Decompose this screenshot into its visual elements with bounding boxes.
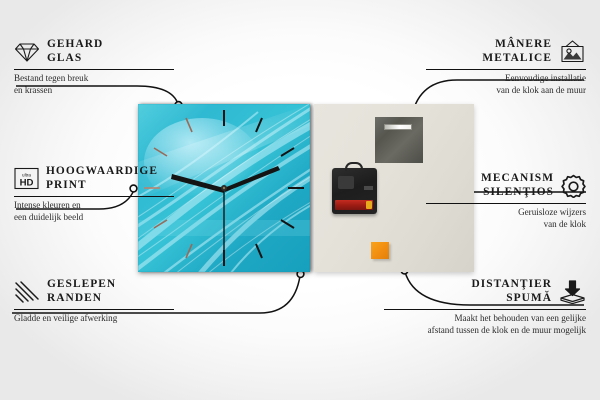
feature-title: DISTANŢIER SPUMĂ	[471, 278, 552, 305]
movement-hook	[345, 162, 363, 171]
foam-spacer	[371, 242, 389, 259]
feature-rule	[426, 203, 586, 204]
feature-title-line2: GLAS	[47, 52, 82, 64]
feature-header: GESLEPEN RANDEN	[14, 278, 174, 305]
feature-distantier-spuma: DISTANŢIER SPUMĂ Maakt het behouden van …	[384, 278, 586, 336]
diamond-icon	[14, 41, 40, 63]
gear-icon	[561, 174, 586, 198]
feature-title-line1: GEHARD	[47, 38, 103, 50]
feature-geslepen-randen: GESLEPEN RANDEN Gladde en veilige afwerk…	[14, 278, 174, 325]
feature-title: MECANISM SILENŢIOS	[481, 172, 554, 199]
feature-description: Eenvoudige installatie van de klok aan d…	[426, 73, 586, 96]
feature-description: Geruisloze wijzers van de klok	[426, 207, 586, 230]
feature-description: Intense kleuren en een duidelijk beeld	[14, 200, 174, 223]
feature-description: Gladde en veilige afwerking	[14, 313, 174, 324]
feature-header: MÂNERE METALICE	[426, 38, 586, 65]
feature-title: GESLEPEN RANDEN	[47, 278, 116, 305]
movement-label	[364, 186, 373, 190]
feature-rule	[384, 309, 586, 310]
feature-title-line2: SILENŢIOS	[483, 186, 554, 198]
ultra-hd-icon: ultra HD	[14, 167, 39, 190]
feature-mecanism-silentios: MECANISM SILENŢIOS Geruisloze wijzers va…	[426, 172, 586, 230]
feature-manere-metalice: MÂNERE METALICE Eenvoudige installatie v…	[426, 38, 586, 96]
feature-header: MECANISM SILENŢIOS	[426, 172, 586, 199]
feature-rule	[14, 309, 174, 310]
feature-title-line1: MECANISM	[481, 172, 554, 184]
feature-rule	[14, 69, 174, 70]
feature-title-line1: GESLEPEN	[47, 278, 116, 290]
feature-title-line2: PRINT	[46, 179, 87, 191]
feature-description: Bestand tegen breuk en krassen	[14, 73, 174, 96]
product-photo	[138, 104, 474, 272]
feature-title: MÂNERE METALICE	[482, 38, 552, 65]
beveled-edges-icon	[14, 281, 40, 303]
spacer-foam-icon	[559, 280, 586, 304]
metal-hanger	[375, 117, 423, 163]
quartz-movement	[332, 168, 377, 214]
ultra-hd-icon-large-text: HD	[20, 178, 34, 189]
feature-title-line1: MÂNERE	[495, 38, 552, 50]
feature-title-line1: HOOGWAARDIGE	[46, 165, 158, 177]
battery	[335, 200, 373, 210]
feature-hoogwaardige-print: ultra HD HOOGWAARDIGE PRINT Intense kleu…	[14, 165, 174, 223]
feature-title-line2: RANDEN	[47, 292, 102, 304]
feature-rule	[426, 69, 586, 70]
hanger-slot	[384, 124, 412, 130]
feature-title-line1: DISTANŢIER	[471, 278, 552, 290]
feature-gehard-glas: GEHARD GLAS Bestand tegen breuk en krass…	[14, 38, 174, 96]
feature-header: ultra HD HOOGWAARDIGE PRINT	[14, 165, 174, 192]
infographic-canvas: GEHARD GLAS Bestand tegen breuk en krass…	[0, 0, 600, 400]
movement-dial	[338, 176, 354, 189]
picture-frame-icon	[559, 40, 586, 63]
feature-description: Maakt het behouden van een gelijke afsta…	[384, 313, 586, 336]
feature-rule	[14, 196, 174, 197]
feature-header: GEHARD GLAS	[14, 38, 174, 65]
feature-title: GEHARD GLAS	[47, 38, 103, 65]
feature-title: HOOGWAARDIGE PRINT	[46, 165, 158, 192]
feature-title-line2: METALICE	[482, 52, 552, 64]
battery-terminal	[366, 201, 372, 209]
feature-title-line2: SPUMĂ	[506, 292, 552, 304]
feature-header: DISTANŢIER SPUMĂ	[384, 278, 586, 305]
